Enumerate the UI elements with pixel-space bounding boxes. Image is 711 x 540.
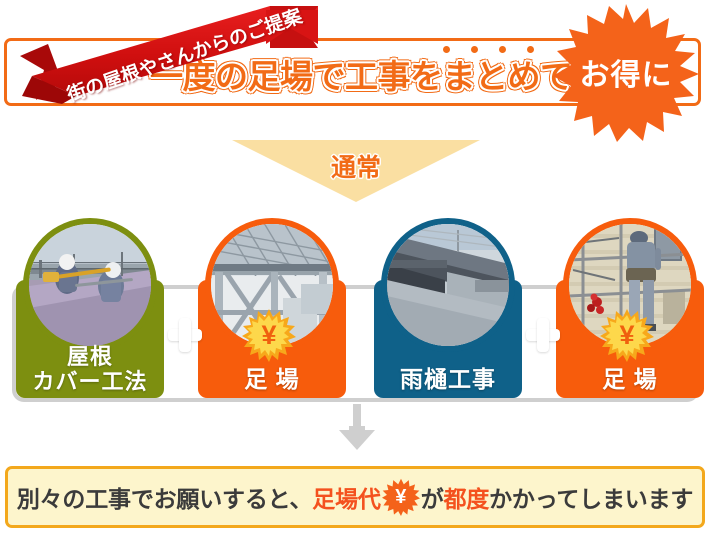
burst-label: お得に (551, 2, 701, 142)
footer-text-part1: 別々の工事でお願いすると、 (17, 480, 312, 514)
card-roof-cover[interactable]: 屋根 カバー工法 (16, 280, 164, 398)
yen-badge-1-symbol: ¥ (242, 308, 296, 362)
footer-text-part3: が (421, 480, 444, 514)
emphasis-dots (432, 46, 544, 58)
group-gutter: 雨樋工事 (374, 218, 704, 403)
footer-accent-each-time: 都度 (444, 480, 490, 514)
card-scaffold-roof-label: 足 場 (198, 367, 346, 392)
yen-badge-1: ¥ (242, 308, 296, 362)
footer-text: 別々の工事でお願いすると、足場代 ¥ が都度かかってしまいます (17, 478, 693, 516)
footer-banner: 別々の工事でお願いすると、足場代 ¥ が都度かかってしまいます (5, 466, 705, 528)
card-gutter-work-label: 雨樋工事 (374, 367, 522, 392)
footer-text-part5: かかってしまいます (489, 480, 693, 514)
footer-accent-scaffold-cost: 足場代 (312, 480, 380, 514)
plus-icon-gutter-group (526, 318, 560, 352)
flow-down-arrow (337, 404, 377, 452)
card-gutter-work[interactable]: 雨樋工事 (374, 280, 522, 398)
roof-cover-photo-image (29, 224, 151, 346)
infographic-root: 一度の足場で工事をまとめて (0, 0, 711, 540)
flow-down-arrow-icon (337, 404, 377, 452)
card-roof-cover-label: 屋根 カバー工法 (16, 344, 164, 394)
gutter-photo (387, 224, 509, 346)
yen-badge-2-symbol: ¥ (600, 308, 654, 362)
okutoku-starburst: お得に (551, 2, 701, 142)
card-scaffold-roof[interactable]: ¥ 足 場 (198, 280, 346, 398)
footer-yen-badge: ¥ (382, 478, 420, 516)
card-roof-cover-label-line2: カバー工法 (32, 369, 147, 394)
card-scaffold-gutter-label: 足 場 (556, 367, 704, 392)
normal-arrow-label: 通常 (232, 146, 480, 186)
card-roof-cover-label-line1: 屋根 (67, 344, 113, 369)
card-groups: 屋根 カバー工法 (0, 218, 711, 403)
card-scaffold-gutter[interactable]: ¥ 足 場 (556, 280, 704, 398)
footer-yen-symbol: ¥ (382, 478, 420, 516)
gutter-photo-image (387, 224, 509, 346)
plus-icon-roof-group (168, 318, 202, 352)
roof-cover-photo (29, 224, 151, 346)
group-roof: 屋根 カバー工法 (16, 218, 346, 403)
normal-arrow: 通常 (232, 140, 480, 208)
yen-badge-2: ¥ (600, 308, 654, 362)
